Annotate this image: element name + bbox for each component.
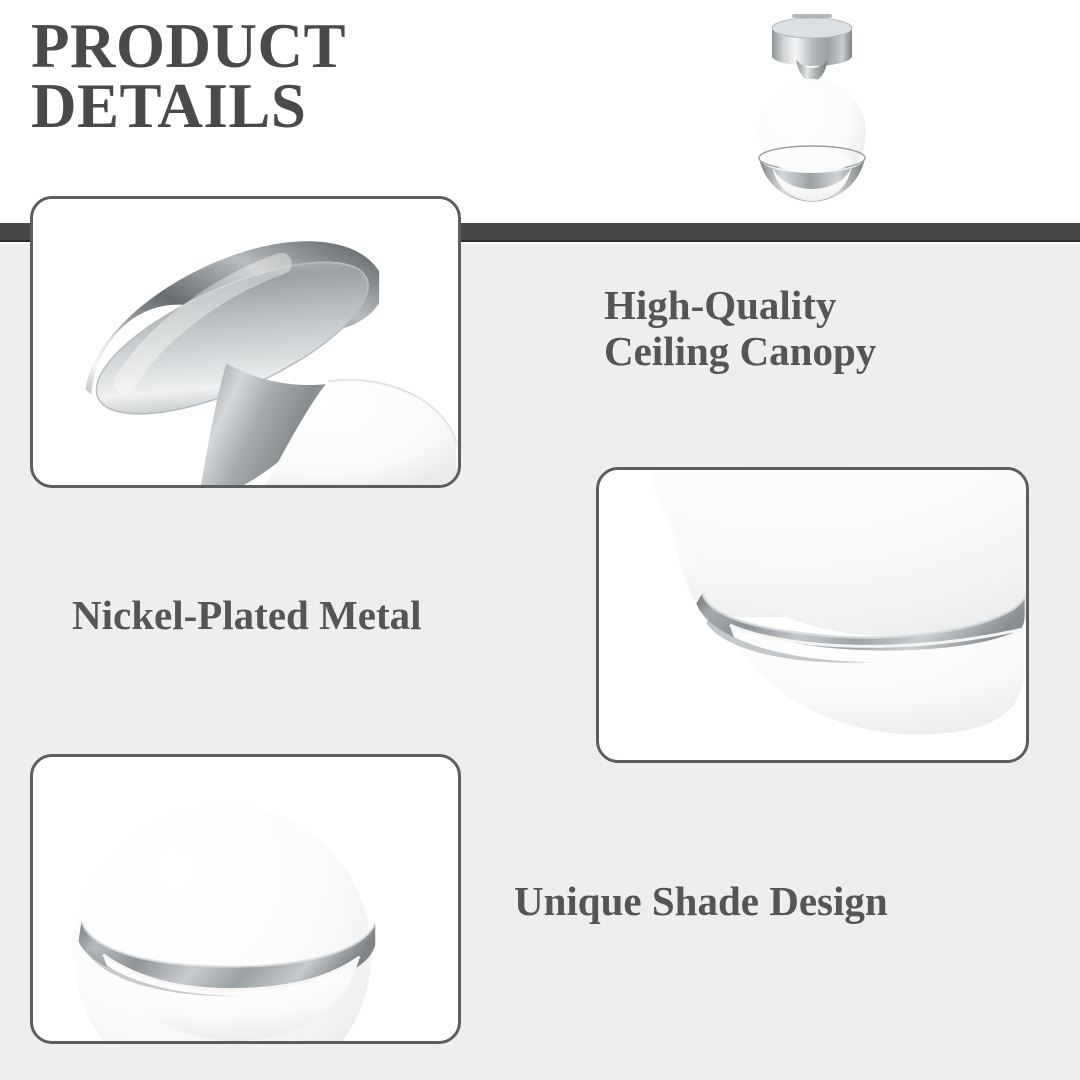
- caption-nickel-plated-metal: Nickel-Plated Metal: [72, 593, 592, 639]
- feature-card-nickel-plated-metal: [596, 467, 1029, 763]
- caption-ceiling-canopy-line-1: High-Quality: [604, 283, 1004, 329]
- feature-card-ceiling-canopy: [30, 196, 461, 488]
- caption-ceiling-canopy-line-2: Ceiling Canopy: [604, 329, 1004, 375]
- caption-nickel-plated-metal-line-1: Nickel-Plated Metal: [72, 593, 592, 639]
- page-title: PRODUCT DETAILS: [31, 16, 551, 137]
- page-title-line-2: DETAILS: [31, 76, 551, 136]
- caption-unique-shade-design-line-1: Unique Shade Design: [514, 879, 1034, 925]
- product-details-infographic: PRODUCT DETAILS: [0, 0, 1080, 1080]
- caption-ceiling-canopy: High-Quality Ceiling Canopy: [604, 283, 1004, 375]
- feature-card-unique-shade-design: [30, 754, 461, 1044]
- hero-product-image: [728, 8, 894, 208]
- page-title-line-1: PRODUCT: [31, 16, 551, 76]
- caption-unique-shade-design: Unique Shade Design: [514, 879, 1034, 925]
